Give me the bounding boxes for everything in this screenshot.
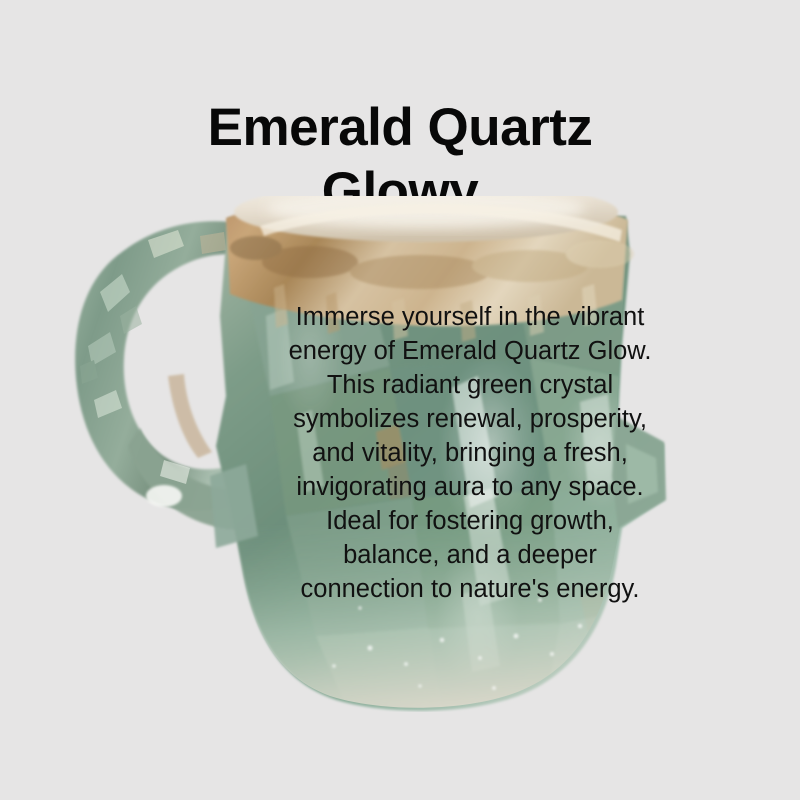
product-description: Immerse yourself in the vibrant energy o… bbox=[240, 300, 700, 606]
product-card: Emerald Quartz Glowy bbox=[0, 0, 800, 800]
